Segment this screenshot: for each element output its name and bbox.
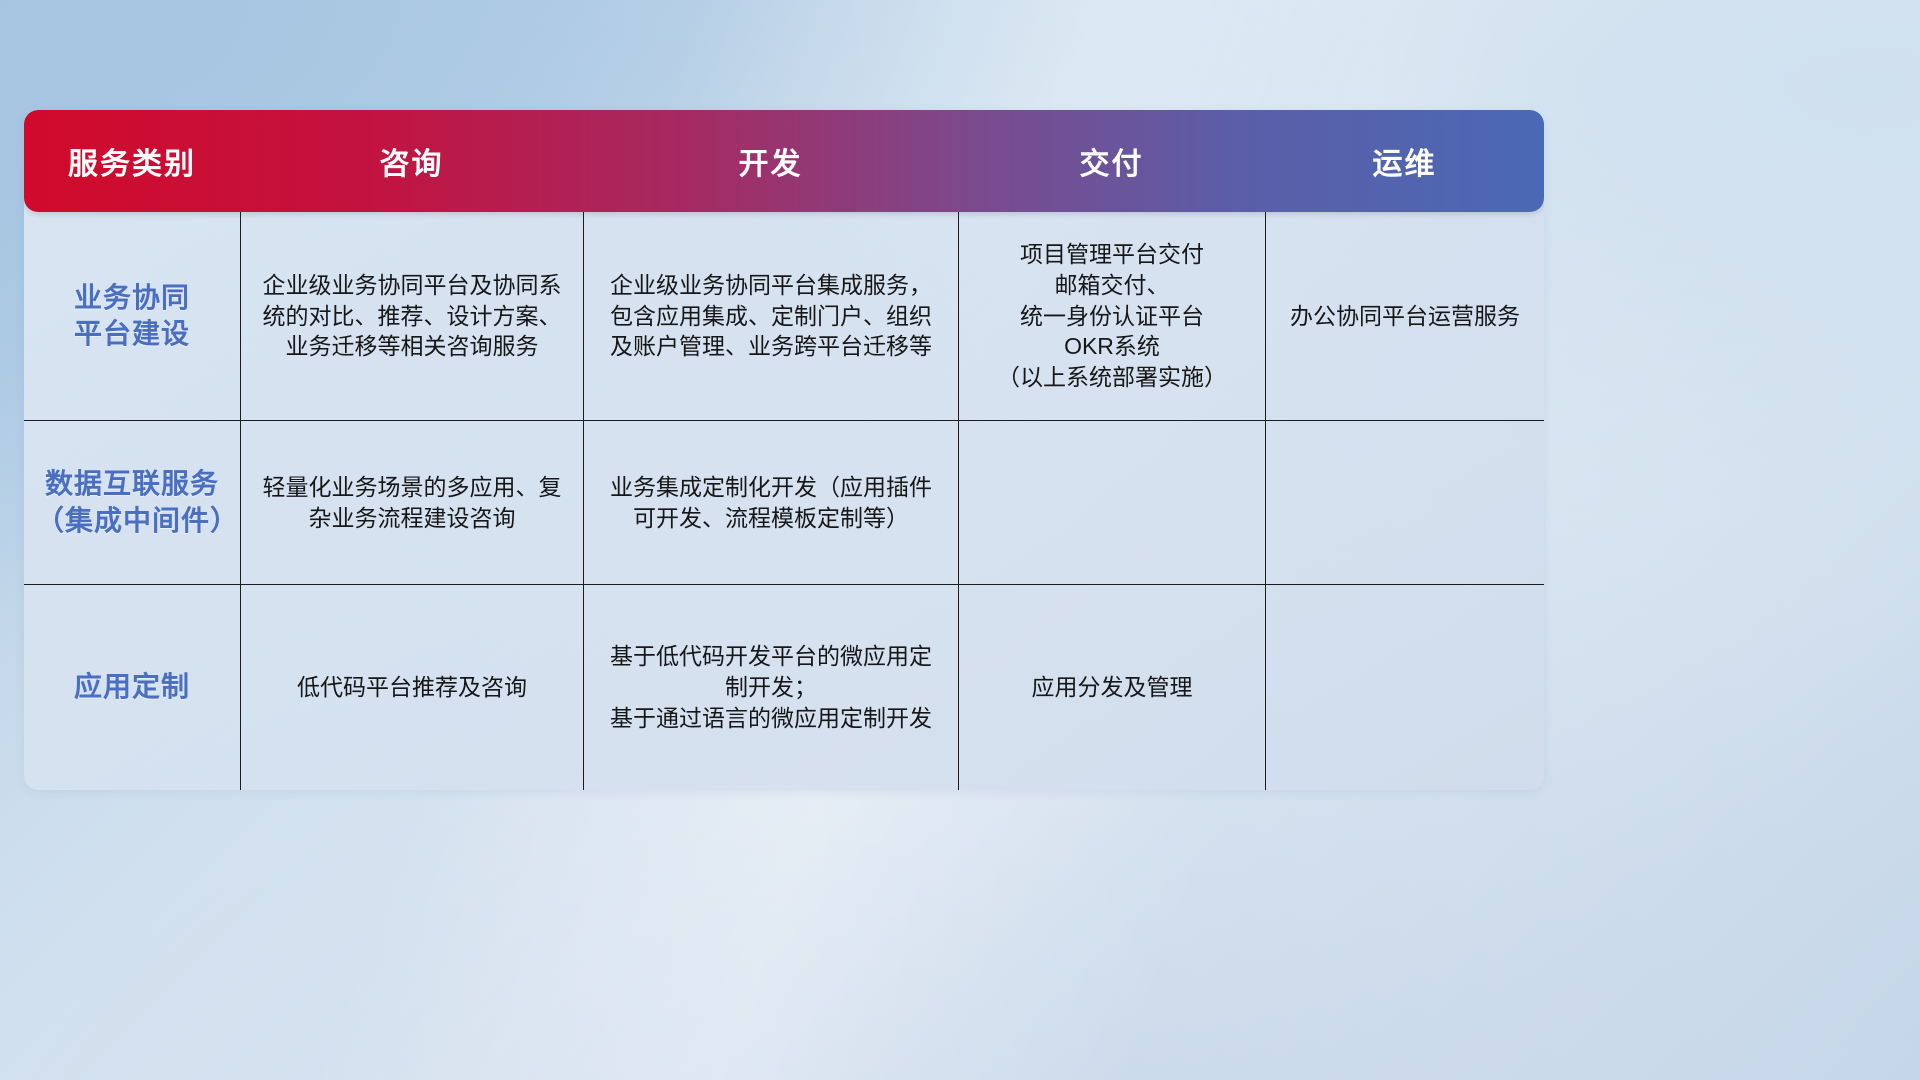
cell-consulting: 轻量化业务场景的多应用、复 杂业务流程建设咨询 xyxy=(240,421,583,584)
row-label-cell: 业务协同 平台建设 xyxy=(24,212,240,420)
cell-text: 轻量化业务场景的多应用、复 杂业务流程建设咨询 xyxy=(263,472,562,534)
cell-operations: 办公协同平台运营服务 xyxy=(1265,212,1544,420)
table-row: 应用定制 低代码平台推荐及咨询 基于低代码开发平台的微应用定 制开发； 基于通过… xyxy=(24,584,1544,790)
cell-operations xyxy=(1265,421,1544,584)
row-label-text: 数据互联服务 （集成中间件） xyxy=(36,466,228,539)
cell-delivery: 应用分发及管理 xyxy=(958,585,1265,790)
cell-text: 低代码平台推荐及咨询 xyxy=(297,672,527,703)
cell-consulting: 企业级业务协同平台及协同系 统的对比、推荐、设计方案、 业务迁移等相关咨询服务 xyxy=(240,212,583,420)
cell-delivery: 项目管理平台交付 邮箱交付、 统一身份认证平台 OKR系统 （以上系统部署实施） xyxy=(958,212,1265,420)
table-body: 业务协同 平台建设 企业级业务协同平台及协同系 统的对比、推荐、设计方案、 业务… xyxy=(24,212,1544,790)
row-label-cell: 数据互联服务 （集成中间件） xyxy=(24,421,240,584)
slide-canvas: 服务类别 咨询 开发 交付 运维 业务协同 平台建设 企业级业务协同平台及协同系… xyxy=(0,0,1920,1080)
row-label-text: 应用定制 xyxy=(74,669,190,705)
cell-text: 应用分发及管理 xyxy=(1032,672,1193,703)
column-header-development: 开发 xyxy=(583,139,958,183)
column-header-service-category: 服务类别 xyxy=(24,139,240,183)
cell-text: 业务集成定制化开发（应用插件 可开发、流程模板定制等） xyxy=(610,472,932,534)
cell-text: 办公协同平台运营服务 xyxy=(1290,301,1520,332)
cell-development: 企业级业务协同平台集成服务， 包含应用集成、定制门户、组织 及账户管理、业务跨平… xyxy=(583,212,958,420)
cell-text: 基于低代码开发平台的微应用定 制开发； 基于通过语言的微应用定制开发 xyxy=(610,641,932,733)
table-row: 数据互联服务 （集成中间件） 轻量化业务场景的多应用、复 杂业务流程建设咨询 业… xyxy=(24,420,1544,584)
column-header-consulting: 咨询 xyxy=(240,139,583,183)
cell-delivery xyxy=(958,421,1265,584)
column-header-operations: 运维 xyxy=(1265,139,1544,183)
cell-development: 业务集成定制化开发（应用插件 可开发、流程模板定制等） xyxy=(583,421,958,584)
cell-text: 企业级业务协同平台及协同系 统的对比、推荐、设计方案、 业务迁移等相关咨询服务 xyxy=(263,270,562,362)
cell-operations xyxy=(1265,585,1544,790)
cell-consulting: 低代码平台推荐及咨询 xyxy=(240,585,583,790)
table-header-row: 服务类别 咨询 开发 交付 运维 xyxy=(24,110,1544,212)
cell-development: 基于低代码开发平台的微应用定 制开发； 基于通过语言的微应用定制开发 xyxy=(583,585,958,790)
service-matrix-table: 服务类别 咨询 开发 交付 运维 业务协同 平台建设 企业级业务协同平台及协同系… xyxy=(24,110,1544,790)
row-label-cell: 应用定制 xyxy=(24,585,240,790)
table-row: 业务协同 平台建设 企业级业务协同平台及协同系 统的对比、推荐、设计方案、 业务… xyxy=(24,212,1544,420)
column-header-delivery: 交付 xyxy=(958,139,1265,183)
row-label-text: 业务协同 平台建设 xyxy=(74,280,190,353)
cell-text: 项目管理平台交付 邮箱交付、 统一身份认证平台 OKR系统 （以上系统部署实施） xyxy=(997,239,1227,393)
cell-text: 企业级业务协同平台集成服务， 包含应用集成、定制门户、组织 及账户管理、业务跨平… xyxy=(610,270,932,362)
